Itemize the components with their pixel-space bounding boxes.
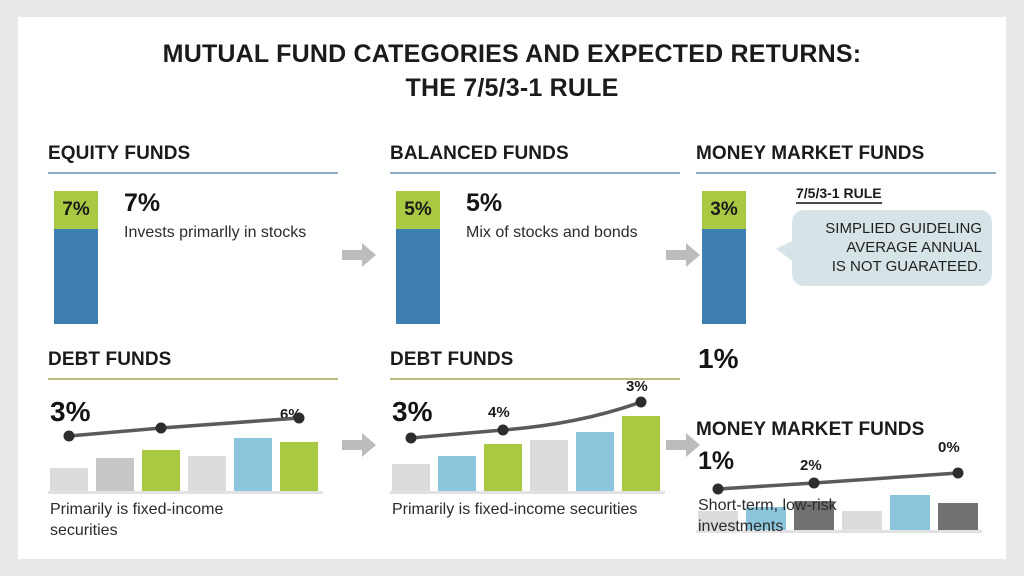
callout-bubble: SIMPLIED GUIDELING AVERAGE ANNUAL IS NOT… xyxy=(792,210,992,286)
panel-heading-equity: EQUITY FUNDS xyxy=(48,143,338,165)
money-market-above-percent: 1% xyxy=(698,343,998,375)
stacked-bar-money-market: 3% xyxy=(702,191,746,324)
arrow-right-icon xyxy=(666,242,700,268)
panel-heading-balanced: BALANCED FUNDS xyxy=(390,143,680,165)
callout-line-1: SIMPLIED GUIDELING xyxy=(804,219,982,238)
equity-percent: 7% xyxy=(124,187,334,219)
balanced-description: Mix of stocks and bonds xyxy=(466,222,676,243)
panel-rule-money-market xyxy=(696,172,996,174)
desc-line-1: Primarily is fixed-income xyxy=(50,499,310,520)
debt-middle-description: Primarily is fixed-income securities xyxy=(392,499,672,520)
infographic-card: MUTUAL FUND CATEGORIES AND EXPECTED RETU… xyxy=(18,17,1006,559)
stacked-bar-body xyxy=(702,229,746,324)
panel-rule-balanced xyxy=(390,172,680,174)
chart-debt-left: 3% 6% xyxy=(48,390,338,494)
panel-money-market-funds: MONEY MARKET FUNDS 3% 7/5/3-1 RULE SIMPL… xyxy=(696,143,996,331)
panel-rule-equity xyxy=(48,172,338,174)
stacked-bar-body xyxy=(54,229,98,324)
panel-text-balanced: 5% Mix of stocks and bonds xyxy=(466,187,676,243)
panel-heading-money-market-bottom: MONEY MARKET FUNDS xyxy=(696,419,996,441)
trend-line-debt-left xyxy=(48,390,338,494)
stacked-bar-balanced: 5% xyxy=(396,191,440,324)
panel-money-market-bottom: 1% MONEY MARKET FUNDS 1% 2% 0% xyxy=(696,343,996,533)
title-line-1: MUTUAL FUND CATEGORIES AND EXPECTED RETU… xyxy=(163,40,862,68)
stacked-bar-cap-label: 3% xyxy=(702,191,746,229)
panel-rule-debt-left xyxy=(48,378,338,380)
desc-line-2: securities xyxy=(50,520,310,541)
page-title: MUTUAL FUND CATEGORIES AND EXPECTED RETU… xyxy=(18,37,1006,105)
panel-body-money-market: 3% 7/5/3-1 RULE SIMPLIED GUIDELING AVERA… xyxy=(696,191,996,331)
desc-line-1: Primarily is fixed-income securities xyxy=(392,499,672,520)
trend-line-debt-middle xyxy=(390,390,680,494)
debt-left-description: Primarily is fixed-income securities xyxy=(50,499,310,541)
arrow-right-icon xyxy=(666,432,700,458)
panel-heading-debt-left: DEBT FUNDS xyxy=(48,349,338,371)
arrow-right-icon xyxy=(342,242,376,268)
panel-text-equity: 7% Invests primarlly in stocks xyxy=(124,187,334,243)
callout-line-3: IS NOT GUARATEED. xyxy=(804,257,982,276)
panel-debt-funds-left: DEBT FUNDS 3% 6% Primarily is f xyxy=(48,349,338,494)
stacked-bar-equity: 7% xyxy=(54,191,98,324)
stacked-bar-body xyxy=(396,229,440,324)
callout-line-2: AVERAGE ANNUAL xyxy=(804,238,982,257)
arrow-right-icon xyxy=(342,432,376,458)
title-line-2: THE 7/5/3-1 RULE xyxy=(18,71,1006,105)
callout-title: 7/5/3-1 RULE xyxy=(796,185,882,204)
desc-line-1: Short-term, low-risk xyxy=(698,495,958,516)
stacked-bar-cap-label: 5% xyxy=(396,191,440,229)
callout-7-5-3-1-rule: 7/5/3-1 RULE SIMPLIED GUIDELING AVERAGE … xyxy=(792,185,992,286)
panel-equity-funds: EQUITY FUNDS 7% 7% Invests primarlly in … xyxy=(48,143,338,331)
desc-line-2: investments xyxy=(698,516,958,537)
stacked-bar-cap-label: 7% xyxy=(54,191,98,229)
chart-debt-middle: 3% 4% 3% xyxy=(390,390,680,494)
panel-body-balanced: 5% 5% Mix of stocks and bonds xyxy=(390,191,680,331)
panel-balanced-funds: BALANCED FUNDS 5% 5% Mix of stocks and b… xyxy=(390,143,680,331)
panel-heading-money-market: MONEY MARKET FUNDS xyxy=(696,143,996,165)
money-market-description: Short-term, low-risk investments xyxy=(698,495,958,537)
equity-description: Invests primarlly in stocks xyxy=(124,222,334,243)
balanced-percent: 5% xyxy=(466,187,676,219)
panel-heading-debt-middle: DEBT FUNDS xyxy=(390,349,680,371)
panel-debt-funds-middle: DEBT FUNDS 3% 4% 3% Prima xyxy=(390,349,680,494)
panel-body-equity: 7% 7% Invests primarlly in stocks xyxy=(48,191,338,331)
